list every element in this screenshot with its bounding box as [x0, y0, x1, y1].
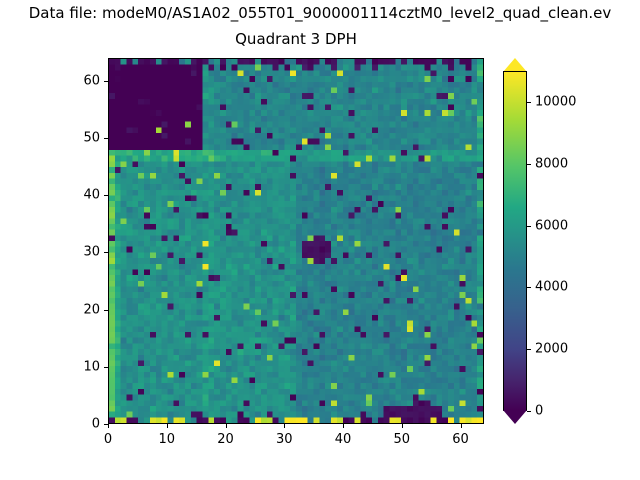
heatmap-image	[109, 59, 483, 423]
x-tick-mark	[226, 424, 227, 428]
y-tick-label: 0	[60, 417, 100, 432]
colorbar-tick-label: 4000	[535, 280, 568, 295]
x-tick-label: 10	[147, 432, 187, 447]
x-tick-mark	[343, 424, 344, 428]
y-tick-label: 10	[60, 359, 100, 374]
y-tick-label: 50	[60, 131, 100, 146]
colorbar-tick-label: 0	[535, 404, 543, 419]
y-tick-mark	[104, 81, 108, 82]
colorbar-tick-mark	[527, 411, 531, 412]
colorbar-over-arrow-icon	[503, 58, 527, 72]
axes-title: Quadrant 3 DPH	[108, 30, 484, 48]
y-tick-label: 40	[60, 188, 100, 203]
x-tick-mark	[461, 424, 462, 428]
colorbar-gradient	[503, 71, 527, 411]
colorbar	[503, 58, 527, 424]
heatmap-axes	[108, 58, 484, 424]
x-tick-label: 30	[264, 432, 304, 447]
colorbar-tick-mark	[527, 226, 531, 227]
colorbar-tick-label: 10000	[535, 94, 576, 109]
colorbar-tick-label: 8000	[535, 156, 568, 171]
x-tick-mark	[284, 424, 285, 428]
colorbar-under-arrow-icon	[503, 410, 527, 424]
y-tick-mark	[104, 195, 108, 196]
x-tick-label: 60	[441, 432, 481, 447]
x-tick-mark	[108, 424, 109, 428]
y-tick-mark	[104, 367, 108, 368]
x-tick-label: 40	[323, 432, 363, 447]
y-tick-label: 30	[60, 245, 100, 260]
y-tick-mark	[104, 252, 108, 253]
figure-suptitle: Data file: modeM0/AS1A02_055T01_90000011…	[0, 4, 640, 22]
colorbar-tick-mark	[527, 287, 531, 288]
x-tick-mark	[402, 424, 403, 428]
y-tick-label: 20	[60, 302, 100, 317]
colorbar-tick-label: 2000	[535, 342, 568, 357]
colorbar-tick-mark	[527, 164, 531, 165]
colorbar-tick-mark	[527, 102, 531, 103]
y-tick-label: 60	[60, 73, 100, 88]
y-tick-mark	[104, 310, 108, 311]
colorbar-tick-label: 6000	[535, 218, 568, 233]
colorbar-tick-mark	[527, 349, 531, 350]
x-tick-label: 50	[382, 432, 422, 447]
y-tick-mark	[104, 138, 108, 139]
matplotlib-figure: Data file: modeM0/AS1A02_055T01_90000011…	[0, 0, 640, 480]
x-tick-label: 0	[88, 432, 128, 447]
x-tick-mark	[167, 424, 168, 428]
x-tick-label: 20	[206, 432, 246, 447]
